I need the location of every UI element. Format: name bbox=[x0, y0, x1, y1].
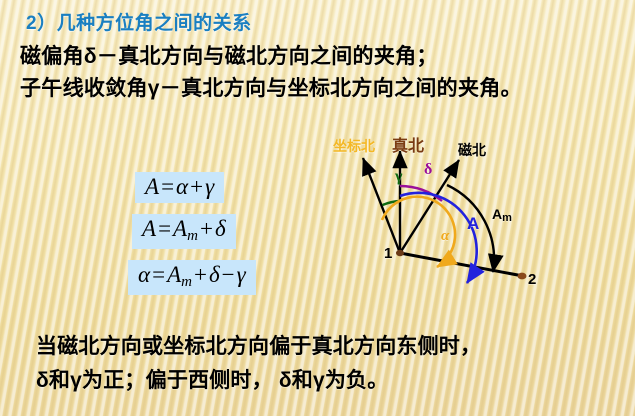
f1-term1: α bbox=[176, 174, 188, 199]
footer-line-1: 当磁北方向或坐标北方向偏于真北方向东侧时， bbox=[36, 330, 481, 360]
f1-lhs: A bbox=[145, 174, 159, 199]
footer-line-2: δ和γ为正；偏于西侧时， δ和γ为负。 bbox=[36, 364, 388, 394]
magnetic-azimuth-label-base: A bbox=[492, 206, 502, 222]
formula-azimuth-from-alpha-gamma: A=α+γ bbox=[135, 172, 224, 203]
alpha-label: α bbox=[441, 228, 449, 245]
survey-line-1-2 bbox=[400, 253, 523, 276]
formula-row-2: A=Am+δ bbox=[132, 214, 256, 249]
f3-op2: − bbox=[220, 262, 237, 287]
slide-canvas: 2）几种方位角之间的关系 磁偏角δ－真北方向与磁北方向之间的夹角； 子午线收敛角… bbox=[0, 0, 635, 416]
true-north-label: 真北 bbox=[392, 132, 424, 156]
magnetic-azimuth-label: Am bbox=[492, 206, 512, 224]
f2-eq: = bbox=[156, 216, 173, 241]
f2-term2: δ bbox=[215, 216, 226, 241]
f2-subscript: m bbox=[187, 228, 198, 244]
formula-alpha-from-magnetic: α=Am+δ−γ bbox=[128, 260, 256, 295]
page-title: 2）几种方位角之间的关系 bbox=[26, 8, 252, 35]
f1-op: + bbox=[188, 174, 205, 199]
f2-lhs: A bbox=[142, 216, 156, 241]
delta-label: δ bbox=[424, 161, 432, 179]
magnetic-azimuth-label-sub: m bbox=[502, 212, 512, 224]
f2-op: + bbox=[198, 216, 215, 241]
gamma-label: γ bbox=[395, 168, 402, 186]
definition-line-convergence: 子午线收敛角γ－真北方向与坐标北方向之间的夹角。 bbox=[20, 72, 522, 102]
f3-lhs: α bbox=[138, 262, 150, 287]
formula-group: A=α+γ A=Am+δ α=Am+δ−γ bbox=[128, 172, 256, 306]
f3-term2: δ bbox=[209, 262, 220, 287]
formula-row-1: A=α+γ bbox=[135, 172, 256, 203]
f1-eq: = bbox=[159, 174, 176, 199]
grid-north-label: 坐标北 bbox=[333, 136, 375, 156]
azimuth-relationship-diagram: 坐标北 真北 磁北 γ δ α A Am 1 2 bbox=[320, 128, 635, 313]
azimuth-label: A bbox=[467, 214, 479, 234]
f3-eq: = bbox=[150, 262, 167, 287]
point-1-label: 1 bbox=[384, 245, 392, 262]
f3-term3: γ bbox=[237, 262, 246, 287]
station-dot-2 bbox=[518, 273, 527, 280]
f1-term2: γ bbox=[205, 174, 214, 199]
formula-azimuth-from-magnetic: A=Am+δ bbox=[132, 214, 236, 249]
formula-row-3: α=Am+δ−γ bbox=[128, 260, 256, 295]
f3-subscript: m bbox=[181, 274, 192, 290]
magnetic-north-label: 磁北 bbox=[458, 140, 486, 160]
f3-op1: + bbox=[192, 262, 209, 287]
f2-term1: A bbox=[173, 216, 187, 241]
station-dot-1 bbox=[396, 250, 404, 256]
f3-term1: A bbox=[167, 262, 181, 287]
definition-line-declination: 磁偏角δ－真北方向与磁北方向之间的夹角； bbox=[20, 40, 438, 70]
point-2-label: 2 bbox=[528, 271, 536, 288]
azimuth-arc bbox=[400, 193, 477, 283]
